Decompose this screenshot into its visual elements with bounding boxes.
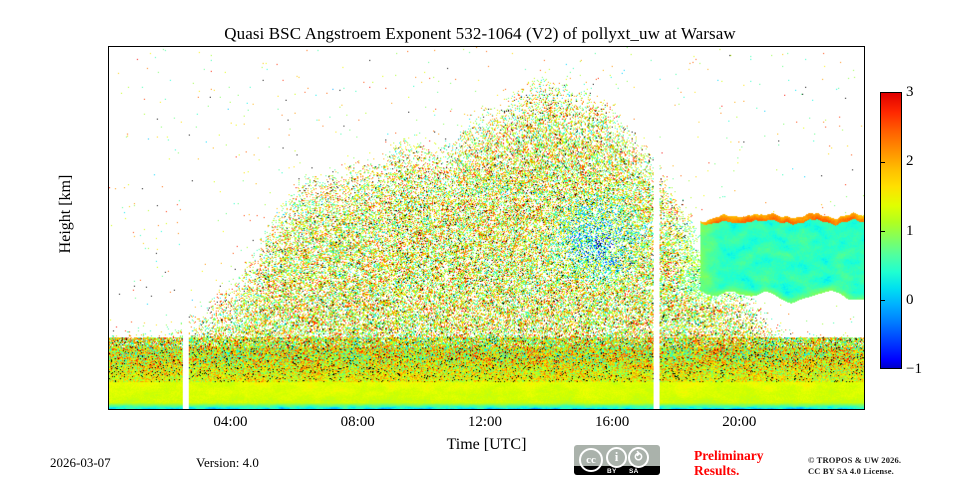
- x-minor-tick: [803, 46, 805, 47]
- x-minor-tick: [453, 46, 455, 47]
- y-minor-tick: [864, 338, 865, 340]
- x-minor-tick: [708, 409, 710, 410]
- colorbar-tick-label: 2: [906, 154, 914, 169]
- y-tick-mark: [108, 169, 109, 171]
- y-minor-tick: [108, 386, 109, 388]
- x-tick-label: 20:00: [704, 414, 774, 431]
- x-minor-tick: [167, 46, 169, 47]
- version-label: Version: 4.0: [196, 455, 259, 471]
- colorbar-tick-label: 3: [906, 85, 914, 100]
- y-tick-mark: [864, 73, 865, 75]
- y-minor-tick: [108, 145, 109, 147]
- x-minor-tick: [771, 409, 773, 410]
- date-stamp: 2026-03-07: [50, 455, 111, 471]
- y-minor-tick: [108, 241, 109, 243]
- x-minor-tick: [676, 409, 678, 410]
- y-tick-mark: [108, 121, 109, 123]
- y-tick-mark: [864, 314, 865, 316]
- y-minor-tick: [864, 49, 865, 51]
- copyright-notice: © TROPOS & UW 2026. CC BY SA 4.0 License…: [808, 455, 901, 478]
- x-minor-tick: [581, 409, 583, 410]
- x-minor-tick: [835, 46, 837, 47]
- copyright-line-2: CC BY SA 4.0 License.: [808, 466, 901, 477]
- y-minor-tick: [864, 193, 865, 195]
- x-tick-mark: [358, 409, 360, 410]
- y-minor-tick: [108, 290, 109, 292]
- x-minor-tick: [262, 46, 264, 47]
- x-tick-label: 08:00: [323, 414, 393, 431]
- x-minor-tick: [835, 409, 837, 410]
- preliminary-line-1: Preliminary: [694, 448, 763, 463]
- page-title: Quasi BSC Angstroem Exponent 532-1064 (V…: [0, 24, 960, 44]
- y-tick-mark: [108, 266, 109, 268]
- x-minor-tick: [390, 409, 392, 410]
- copyright-line-1: © TROPOS & UW 2026.: [808, 455, 901, 466]
- x-tick-mark: [485, 409, 487, 410]
- x-minor-tick: [135, 409, 137, 410]
- y-tick-mark: [108, 314, 109, 316]
- x-minor-tick: [803, 409, 805, 410]
- colorbar-tick-mark: [880, 300, 885, 301]
- x-tick-mark: [485, 46, 487, 47]
- y-minor-tick: [108, 49, 109, 51]
- cc-icon: cc: [579, 448, 603, 472]
- x-minor-tick: [262, 409, 264, 410]
- x-tick-mark: [358, 46, 360, 47]
- x-minor-tick: [676, 46, 678, 47]
- y-minor-tick: [864, 290, 865, 292]
- cc-by-icon: i: [606, 447, 627, 468]
- colorbar-tick-mark: [880, 231, 885, 232]
- y-minor-tick: [108, 338, 109, 340]
- cc-sa-icon: ⥁: [628, 447, 649, 468]
- y-minor-tick: [864, 145, 865, 147]
- x-tick-mark: [231, 46, 233, 47]
- x-minor-tick: [421, 46, 423, 47]
- y-tick-mark: [108, 362, 109, 364]
- y-minor-tick: [864, 241, 865, 243]
- y-tick-mark: [864, 169, 865, 171]
- y-minor-tick: [864, 97, 865, 99]
- y-tick-mark: [864, 266, 865, 268]
- colorbar-tick-mark: [880, 162, 885, 163]
- cc-sa-label: SA: [629, 468, 639, 475]
- y-minor-tick: [108, 193, 109, 195]
- creative-commons-badge: cc i ⥁ BY SA: [574, 445, 660, 475]
- y-minor-tick: [108, 97, 109, 99]
- x-minor-tick: [199, 409, 201, 410]
- x-minor-tick: [549, 46, 551, 47]
- angstroem-exponent-heatmap: [109, 47, 864, 409]
- x-tick-label: 16:00: [577, 414, 647, 431]
- y-tick-mark: [108, 73, 109, 75]
- y-tick-mark: [864, 121, 865, 123]
- preliminary-line-2: Results.: [694, 463, 763, 478]
- x-minor-tick: [135, 46, 137, 47]
- x-minor-tick: [421, 409, 423, 410]
- x-tick-mark: [740, 409, 742, 410]
- x-minor-tick: [581, 46, 583, 47]
- colorbar-tick-label: −1: [906, 362, 922, 377]
- x-minor-tick: [644, 409, 646, 410]
- y-tick-mark: [864, 362, 865, 364]
- x-tick-label: 04:00: [195, 414, 265, 431]
- x-minor-tick: [708, 46, 710, 47]
- colorbar-tick-label: 1: [906, 224, 914, 239]
- x-minor-tick: [326, 46, 328, 47]
- preliminary-notice: Preliminary Results.: [694, 448, 763, 478]
- x-minor-tick: [644, 46, 646, 47]
- x-minor-tick: [390, 46, 392, 47]
- x-minor-tick: [517, 409, 519, 410]
- quicklook-figure: Quasi BSC Angstroem Exponent 532-1064 (V…: [0, 0, 960, 480]
- x-minor-tick: [326, 409, 328, 410]
- x-minor-tick: [199, 46, 201, 47]
- x-tick-label: 12:00: [450, 414, 520, 431]
- x-tick-mark: [612, 409, 614, 410]
- cc-by-label: BY: [607, 468, 617, 475]
- x-minor-tick: [167, 409, 169, 410]
- y-tick-mark: [864, 217, 865, 219]
- x-minor-tick: [294, 46, 296, 47]
- y-axis-label: Height [km]: [57, 134, 75, 294]
- x-minor-tick: [771, 46, 773, 47]
- heatmap-plot-area: [108, 46, 865, 410]
- y-minor-tick: [864, 386, 865, 388]
- x-minor-tick: [549, 409, 551, 410]
- x-minor-tick: [294, 409, 296, 410]
- colorbar-tick-label: 0: [906, 293, 914, 308]
- x-tick-mark: [612, 46, 614, 47]
- x-minor-tick: [453, 409, 455, 410]
- x-tick-mark: [231, 409, 233, 410]
- x-tick-mark: [740, 46, 742, 47]
- y-tick-mark: [108, 217, 109, 219]
- x-minor-tick: [517, 46, 519, 47]
- colorbar: [880, 92, 902, 369]
